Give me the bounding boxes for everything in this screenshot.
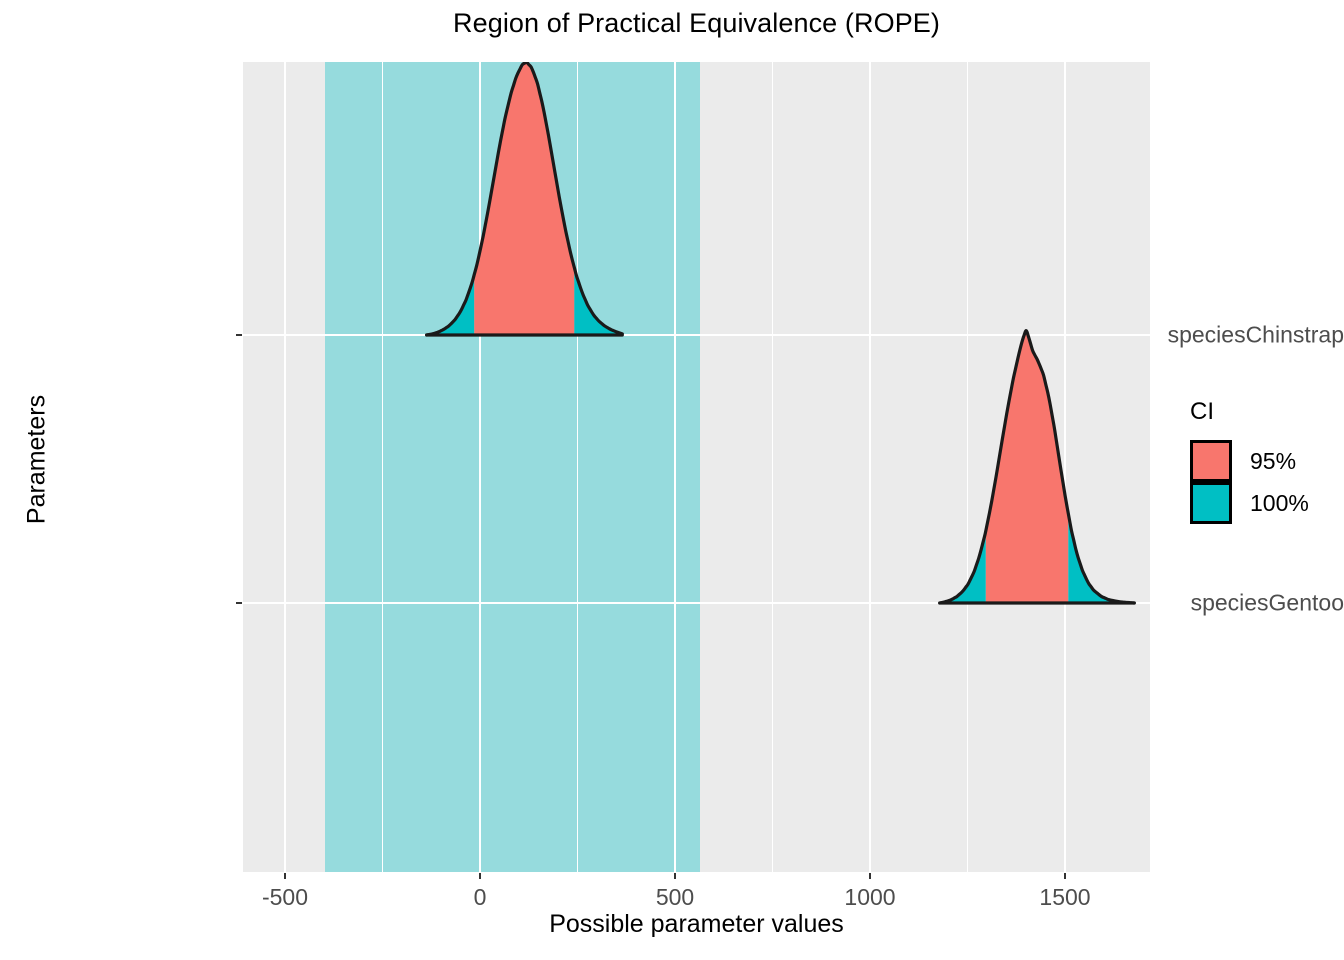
legend-title: CI xyxy=(1190,398,1309,426)
legend-swatch-95 xyxy=(1190,440,1232,482)
legend-label-100: 100% xyxy=(1250,490,1309,517)
legend-item-100[interactable]: 100% xyxy=(1190,482,1309,524)
legend-swatch-100 xyxy=(1190,482,1232,524)
x-tick-label: 500 xyxy=(656,884,694,911)
x-tick-mark xyxy=(1064,873,1066,879)
y-tick-label: speciesChinstrap xyxy=(1166,322,1344,349)
y-axis-title: Parameters xyxy=(23,350,52,570)
legend: CI 95% 100% xyxy=(1190,398,1309,524)
density-tail-right-100 xyxy=(574,268,622,335)
x-tick-mark xyxy=(674,873,676,879)
legend-item-95[interactable]: 95% xyxy=(1190,440,1309,482)
x-tick-label: -500 xyxy=(262,884,308,911)
y-tick-mark xyxy=(236,602,242,604)
plot-panel xyxy=(243,62,1150,872)
page-title: Region of Practical Equivalence (ROPE) xyxy=(243,8,1150,39)
y-tick-label: speciesGentoo xyxy=(1166,590,1344,617)
y-tick-mark xyxy=(236,334,242,336)
legend-label-95: 95% xyxy=(1250,448,1296,475)
x-tick-mark xyxy=(284,873,286,879)
x-axis-title: Possible parameter values xyxy=(243,910,1150,939)
x-tick-mark xyxy=(869,873,871,879)
x-tick-label: 1500 xyxy=(1039,884,1090,911)
x-tick-label: 0 xyxy=(474,884,487,911)
density-curves xyxy=(243,62,1150,872)
x-tick-mark xyxy=(479,873,481,879)
x-tick-label: 1000 xyxy=(844,884,895,911)
rope-plot-figure: Region of Practical Equivalence (ROPE) -… xyxy=(0,0,1344,960)
